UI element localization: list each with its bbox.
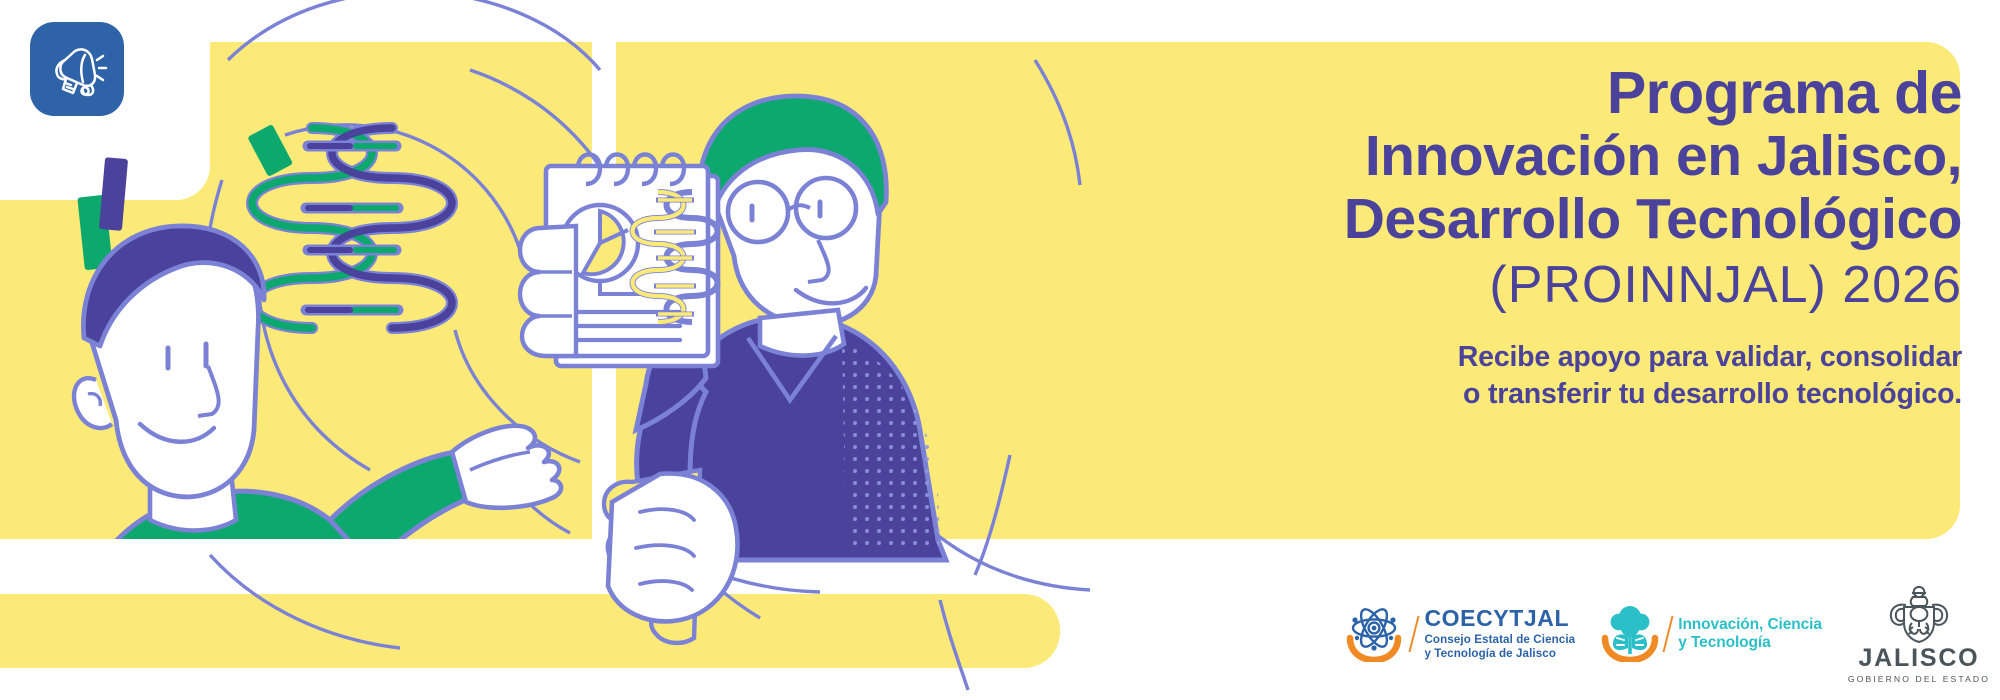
hand-lower-fist <box>604 470 738 643</box>
tree-icon <box>1601 602 1659 667</box>
coecytjal-text: COECYTJAL Consejo Estatal de Ciencia y T… <box>1424 607 1575 660</box>
logo-coecytjal: COECYTJAL Consejo Estatal de Ciencia y T… <box>1343 602 1575 667</box>
logo-jalisco: JALISCO GOBIERNO DEL ESTADO <box>1848 583 1990 685</box>
jalisco-name: JALISCO <box>1848 645 1990 671</box>
ict-line-1: Innovación, Ciencia <box>1678 616 1822 635</box>
character-left-green-shirt <box>67 226 561 700</box>
logo-innovacion-ciencia-tecnologia: Innovación, Ciencia y Tecnología <box>1601 602 1822 667</box>
atom-icon <box>1343 602 1405 667</box>
coecytjal-subtitle-2: y Tecnología de Jalisco <box>1424 647 1575 661</box>
logo-bar: COECYTJAL Consejo Estatal de Ciencia y T… <box>1340 578 1990 690</box>
tagline-line-1: Recibe apoyo para validar, consolidar <box>1082 339 1962 376</box>
jalisco-subtitle: GOBIERNO DEL ESTADO <box>1848 674 1990 685</box>
headline-program-code: (PROINNJAL) 2026 <box>1082 253 1962 317</box>
coecytjal-subtitle-1: Consejo Estatal de Ciencia <box>1424 633 1575 647</box>
headline-line-2: Innovación en Jalisco, <box>1082 125 1962 188</box>
logo-divider <box>1409 616 1420 652</box>
tagline-line-2: o transferir tu desarrollo tecnológico. <box>1082 376 1962 413</box>
hand-holding-document <box>520 226 576 356</box>
headline-line-3: Desarrollo Tecnológico <box>1082 188 1962 251</box>
headline-block: Programa de Innovación en Jalisco, Desar… <box>1082 62 1962 413</box>
jalisco-coat-of-arms-icon <box>1848 583 1990 645</box>
coecytjal-name: COECYTJAL <box>1424 607 1575 630</box>
promotional-banner: Programa de Innovación en Jalisco, Desar… <box>0 0 2000 700</box>
megaphone-icon <box>45 37 109 101</box>
ict-text: Innovación, Ciencia y Tecnología <box>1678 616 1822 653</box>
megaphone-badge <box>30 22 124 116</box>
logo-divider <box>1663 616 1674 652</box>
ict-line-2: y Tecnología <box>1678 634 1822 653</box>
character-right-purple-coat <box>520 96 946 643</box>
headline-line-1: Programa de <box>1082 62 1962 125</box>
